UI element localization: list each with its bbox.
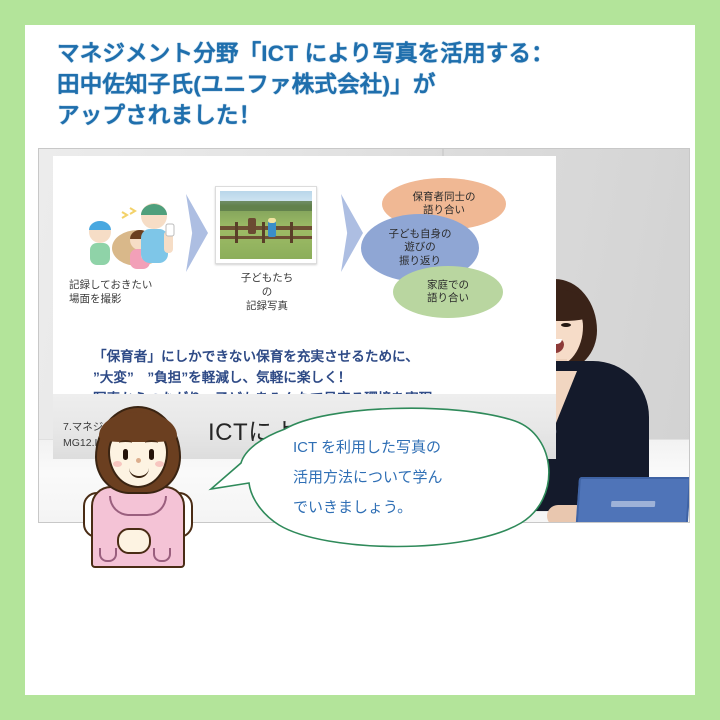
teacher-brow-left [119, 440, 132, 446]
page-root: マネジメント分野「ICT により写真を活用する： 田中佐知子氏(ユニファ株式会社… [0, 0, 720, 720]
page-title-line-2: 田中佐知子氏(ユニファ株式会社)」が [57, 69, 677, 100]
teacher-cheek-right [155, 461, 164, 467]
outcome-bubble-family: 家庭での 語り合い [393, 266, 503, 318]
children-outdoor-photo [215, 186, 317, 264]
presenter-eye-right [561, 323, 571, 327]
nursery-teacher-illustration [73, 400, 201, 568]
chevron-right-icon [186, 194, 208, 272]
laptop-icon [575, 477, 690, 523]
laptop-logo [611, 501, 655, 507]
page-title-line-1: マネジメント分野「ICT により写真を活用する： [57, 38, 677, 69]
teacher-cheek-left [113, 461, 122, 467]
teacher-nose [136, 458, 141, 463]
teacher-eye-right [149, 449, 154, 460]
teacher-eye-left [123, 449, 128, 460]
page-title-line-3: アップされました！ [57, 100, 677, 131]
speech-bubble: ICT を利用した写真の 活用方法について学ん でいきましょう。 [205, 403, 563, 551]
teacher-brow-right [145, 440, 158, 446]
teacher-pocket-left [99, 548, 117, 562]
speech-bubble-text: ICT を利用した写真の 活用方法について学ん でいきましょう。 [293, 433, 543, 523]
flow-step-1-caption: 記録しておきたい 場面を撮影 [69, 278, 189, 306]
teacher-hands [117, 528, 151, 554]
flow-step-2-caption: 子どもたち の 記録写真 [203, 271, 331, 313]
teacher-photographing-children-illustration [78, 198, 180, 274]
page-title: マネジメント分野「ICT により写真を活用する： 田中佐知子氏(ユニファ株式会社… [57, 38, 677, 131]
flow-diagram: 記録しておきたい 場面を撮影 [53, 156, 556, 346]
teacher-pocket-right [153, 548, 171, 562]
chevron-right-icon-2 [341, 194, 363, 272]
content-card: マネジメント分野「ICT により写真を活用する： 田中佐知子氏(ユニファ株式会社… [25, 25, 695, 695]
